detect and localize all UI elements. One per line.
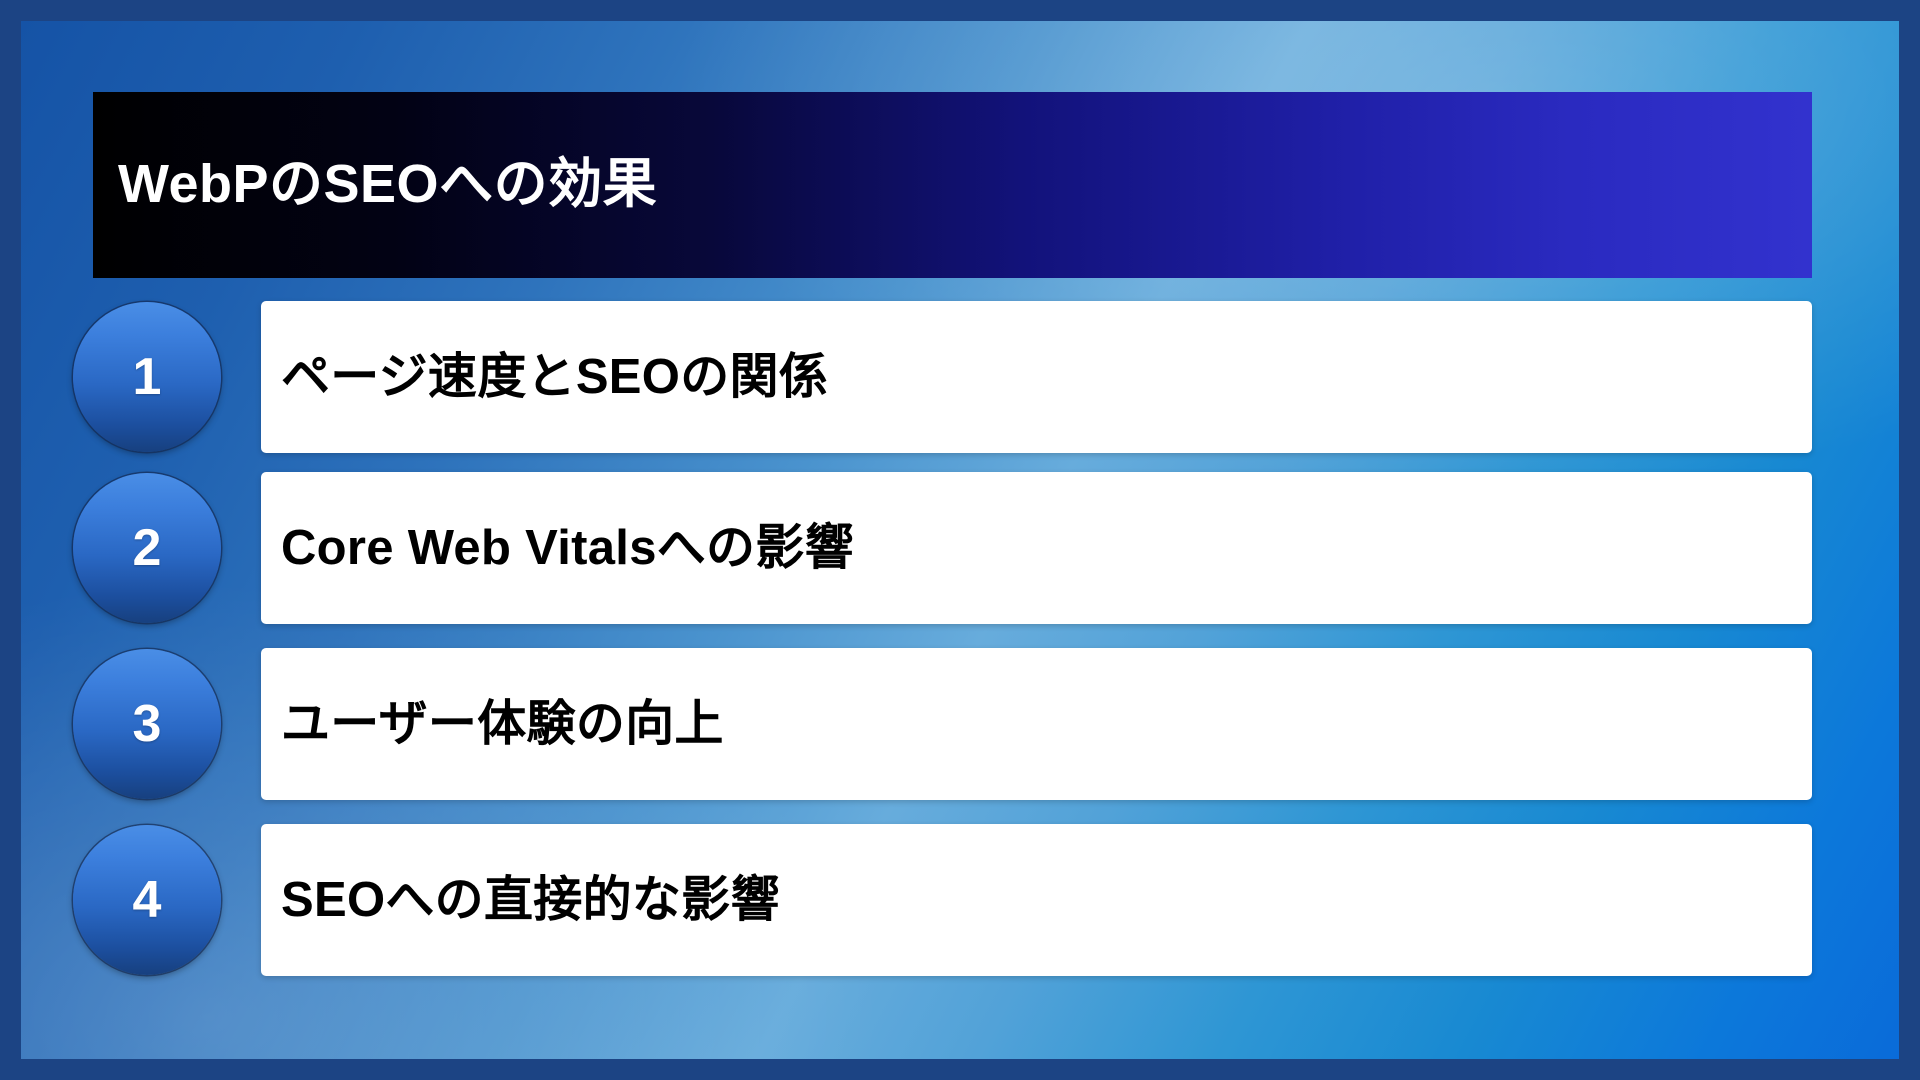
item-card-label: ユーザー体験の向上 (281, 696, 724, 752)
number-badge-4: 4 (73, 825, 221, 975)
slide-panel: WebPのSEOへの効果 1 ページ速度とSEOの関係 2 Core Web V… (21, 21, 1899, 1059)
item-card-label: Core Web Vitalsへの影響 (281, 520, 854, 576)
number-badge-label: 4 (133, 874, 162, 926)
number-badge-label: 2 (133, 522, 162, 574)
item-card-3[interactable]: ユーザー体験の向上 (261, 648, 1812, 800)
page-title: WebPのSEOへの効果 (93, 155, 657, 214)
item-card-4[interactable]: SEOへの直接的な影響 (261, 824, 1812, 976)
slide-root: WebPのSEOへの効果 1 ページ速度とSEOの関係 2 Core Web V… (0, 0, 1920, 1080)
number-badge-3: 3 (73, 649, 221, 799)
number-badge-label: 3 (133, 698, 162, 750)
number-badge-1: 1 (73, 302, 221, 452)
item-card-1[interactable]: ページ速度とSEOの関係 (261, 301, 1812, 453)
list-item[interactable]: 1 ページ速度とSEOの関係 (21, 301, 1899, 453)
number-badge-label: 1 (133, 351, 162, 403)
list-item[interactable]: 3 ユーザー体験の向上 (21, 648, 1899, 800)
item-card-2[interactable]: Core Web Vitalsへの影響 (261, 472, 1812, 624)
list-item[interactable]: 4 SEOへの直接的な影響 (21, 824, 1899, 976)
item-card-label: ページ速度とSEOの関係 (281, 349, 828, 405)
title-banner: WebPのSEOへの効果 (93, 92, 1812, 278)
list-item[interactable]: 2 Core Web Vitalsへの影響 (21, 472, 1899, 624)
number-badge-2: 2 (73, 473, 221, 623)
item-card-label: SEOへの直接的な影響 (281, 872, 780, 928)
